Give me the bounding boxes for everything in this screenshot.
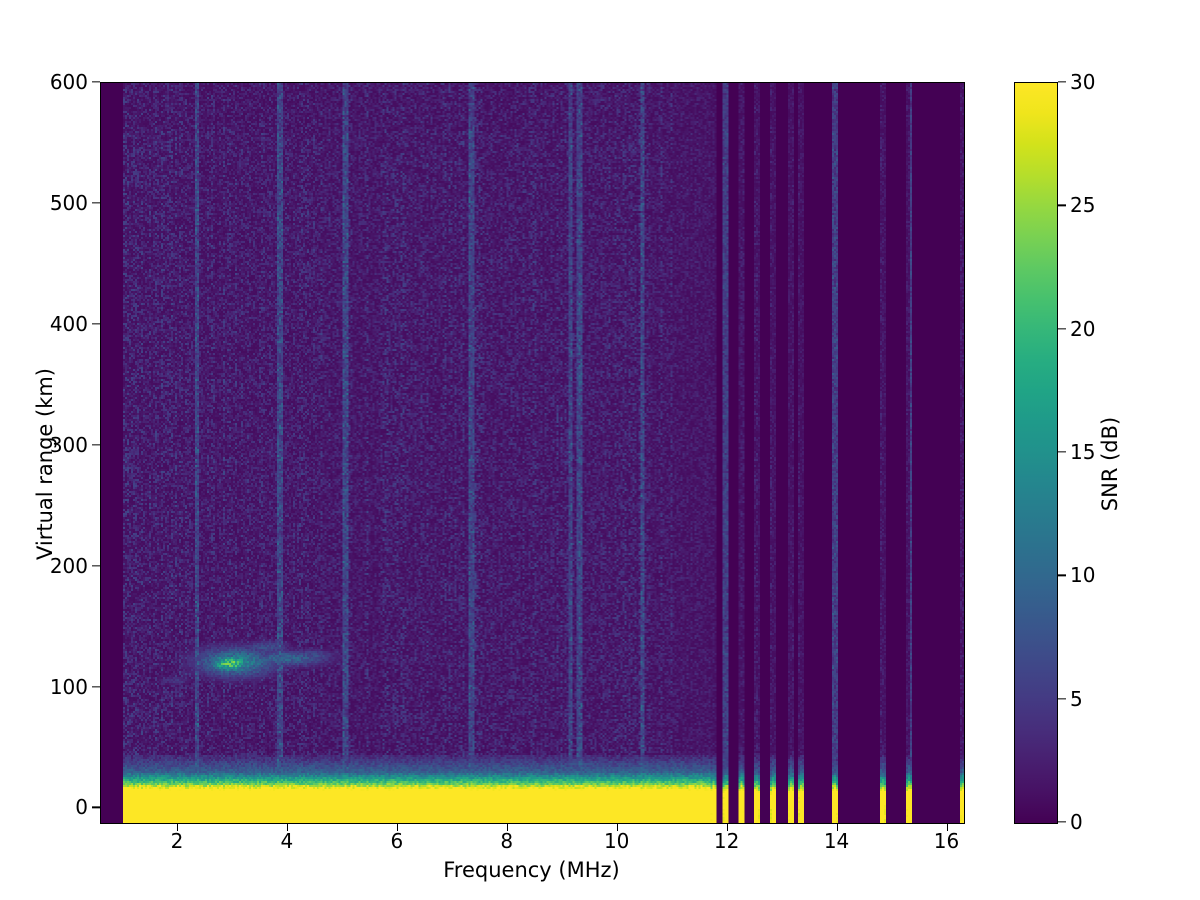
colorbar-label: SNR (dB) bbox=[1098, 164, 1122, 764]
colorbar-tick-label: 0 bbox=[1070, 810, 1083, 834]
x-tick-mark bbox=[507, 823, 508, 831]
x-tick-label: 16 bbox=[934, 829, 959, 853]
y-tick-mark bbox=[92, 444, 100, 445]
colorbar-tick-mark bbox=[1058, 821, 1066, 822]
y-tick-label: 0 bbox=[75, 795, 88, 819]
colorbar-tick-label: 30 bbox=[1070, 70, 1095, 94]
y-tick-mark bbox=[92, 202, 100, 203]
colorbar-tick-mark bbox=[1058, 451, 1066, 452]
y-tick-label: 400 bbox=[50, 312, 88, 336]
y-tick-mark bbox=[92, 565, 100, 566]
colorbar-tick-label: 10 bbox=[1070, 563, 1095, 587]
colorbar-gradient bbox=[1015, 83, 1057, 823]
x-tick-mark bbox=[287, 823, 288, 831]
colorbar-tick-mark bbox=[1058, 205, 1066, 206]
x-tick-label: 10 bbox=[604, 829, 629, 853]
x-tick-label: 4 bbox=[281, 829, 294, 853]
x-tick-mark bbox=[177, 823, 178, 831]
x-tick-mark bbox=[727, 823, 728, 831]
x-tick-mark bbox=[837, 823, 838, 831]
colorbar-tick-label: 20 bbox=[1070, 317, 1095, 341]
ionogram-plot-area bbox=[100, 82, 965, 824]
y-tick-label: 300 bbox=[50, 433, 88, 457]
colorbar-tick-label: 5 bbox=[1070, 687, 1083, 711]
colorbar-tick-mark bbox=[1058, 328, 1066, 329]
y-tick-label: 200 bbox=[50, 554, 88, 578]
y-tick-mark bbox=[92, 686, 100, 687]
ionogram-heatmap bbox=[101, 83, 964, 823]
x-axis-label: Frequency (MHz) bbox=[100, 858, 963, 882]
colorbar-tick-mark bbox=[1058, 698, 1066, 699]
colorbar-tick-label: 25 bbox=[1070, 193, 1095, 217]
y-tick-label: 100 bbox=[50, 675, 88, 699]
x-tick-mark bbox=[397, 823, 398, 831]
colorbar-tick-mark bbox=[1058, 575, 1066, 576]
x-tick-mark bbox=[947, 823, 948, 831]
y-tick-mark bbox=[92, 81, 100, 82]
y-tick-mark bbox=[92, 807, 100, 808]
x-tick-label: 12 bbox=[714, 829, 739, 853]
y-tick-label: 500 bbox=[50, 191, 88, 215]
colorbar-tick-label: 15 bbox=[1070, 440, 1095, 464]
colorbar-tick-mark bbox=[1058, 81, 1066, 82]
x-tick-mark bbox=[617, 823, 618, 831]
y-tick-label: 600 bbox=[50, 70, 88, 94]
x-tick-label: 2 bbox=[171, 829, 184, 853]
y-tick-mark bbox=[92, 323, 100, 324]
colorbar bbox=[1014, 82, 1058, 824]
x-tick-label: 6 bbox=[390, 829, 403, 853]
ionogram-figure: IRF Kiruna Ionosonde KI167 2025-05-29 21… bbox=[0, 0, 1200, 900]
x-tick-label: 14 bbox=[824, 829, 849, 853]
x-tick-label: 8 bbox=[500, 829, 513, 853]
